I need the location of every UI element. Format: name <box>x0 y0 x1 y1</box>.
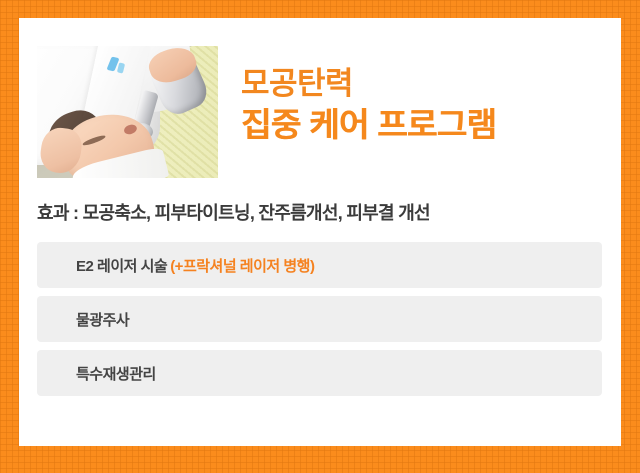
list-item[interactable]: 특수재생관리 <box>37 350 602 396</box>
program-label: E2 레이저 시술 <box>37 255 167 276</box>
program-label: 물광주사 <box>37 309 129 330</box>
page-title: 모공탄력 집중 케어 프로그램 <box>241 68 496 141</box>
treatment-photo <box>37 46 218 178</box>
title-line-1: 모공탄력 <box>241 68 496 99</box>
list-item[interactable]: E2 레이저 시술 (+프락셔널 레이저 병행) <box>37 242 602 288</box>
hero-section: 모공탄력 집중 케어 프로그램 <box>19 18 621 186</box>
promo-banner: 모공탄력 집중 케어 프로그램 효과 : 모공축소, 피부타이트닝, 잔주름개선… <box>0 0 640 473</box>
banner-card: 모공탄력 집중 케어 프로그램 효과 : 모공축소, 피부타이트닝, 잔주름개선… <box>19 18 621 446</box>
program-note: (+프락셔널 레이저 병행) <box>170 255 314 276</box>
effects-line: 효과 : 모공축소, 피부타이트닝, 잔주름개선, 피부결 개선 <box>37 199 430 225</box>
program-label: 특수재생관리 <box>37 363 156 384</box>
title-line-2: 집중 케어 프로그램 <box>241 108 496 141</box>
program-list: E2 레이저 시술 (+프락셔널 레이저 병행) 물광주사 특수재생관리 <box>37 242 602 396</box>
list-item[interactable]: 물광주사 <box>37 296 602 342</box>
